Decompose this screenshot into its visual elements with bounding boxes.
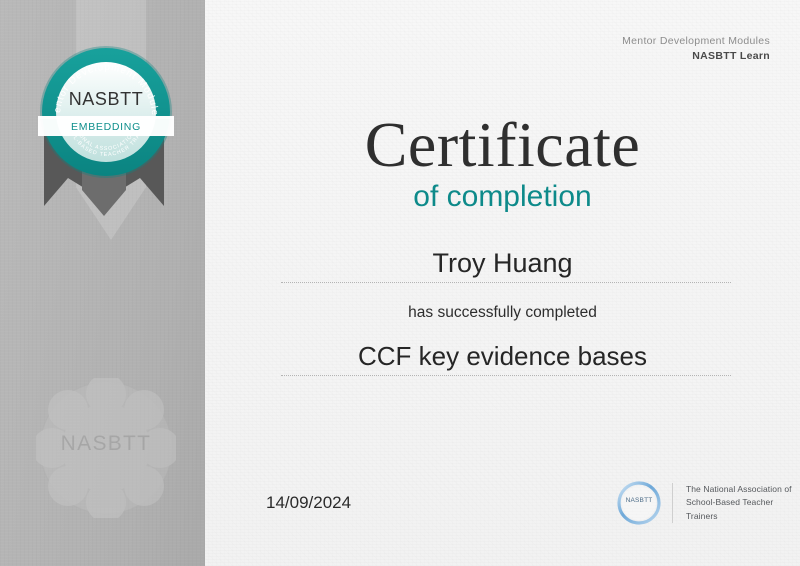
recipient-name: Troy Huang (205, 248, 800, 279)
issue-date: 14/09/2024 (266, 493, 351, 513)
certificate-canvas: NASBTT (0, 0, 800, 566)
association-name: The National Association of School-Based… (686, 483, 800, 523)
completion-statement: has successfully completed (205, 304, 800, 322)
header-line-modules: Mentor Development Modules (622, 34, 770, 49)
header-brand: Mentor Development Modules NASBTT Learn (622, 34, 770, 64)
divider-top (281, 282, 731, 283)
watermark-label: NASBTT (36, 432, 176, 456)
nasbtt-logo-icon: NASBTT (609, 479, 669, 527)
certificate-subtitle: of completion (205, 180, 800, 214)
badge-module-label: EMBEDDING (38, 121, 174, 133)
nasbtt-embedding-badge: Mentor Development Modules NATIONAL ASSO… (38, 44, 174, 180)
header-line-product: NASBTT Learn (622, 49, 770, 64)
badge-org-name: NASBTT (38, 89, 174, 110)
nasbtt-watermark: NASBTT (36, 378, 176, 518)
footer-logo-block: NASBTT The National Association of Schoo… (609, 479, 800, 527)
certificate-title: Certificate (205, 108, 800, 182)
left-side-panel: NASBTT (0, 0, 205, 566)
footer-divider (672, 483, 673, 523)
association-line-1: The National Association of (686, 483, 800, 496)
footer-logo-text: NASBTT (609, 497, 669, 504)
association-line-2: School-Based Teacher Trainers (686, 496, 800, 522)
course-name: CCF key evidence bases (205, 341, 800, 372)
divider-bottom (281, 375, 731, 376)
